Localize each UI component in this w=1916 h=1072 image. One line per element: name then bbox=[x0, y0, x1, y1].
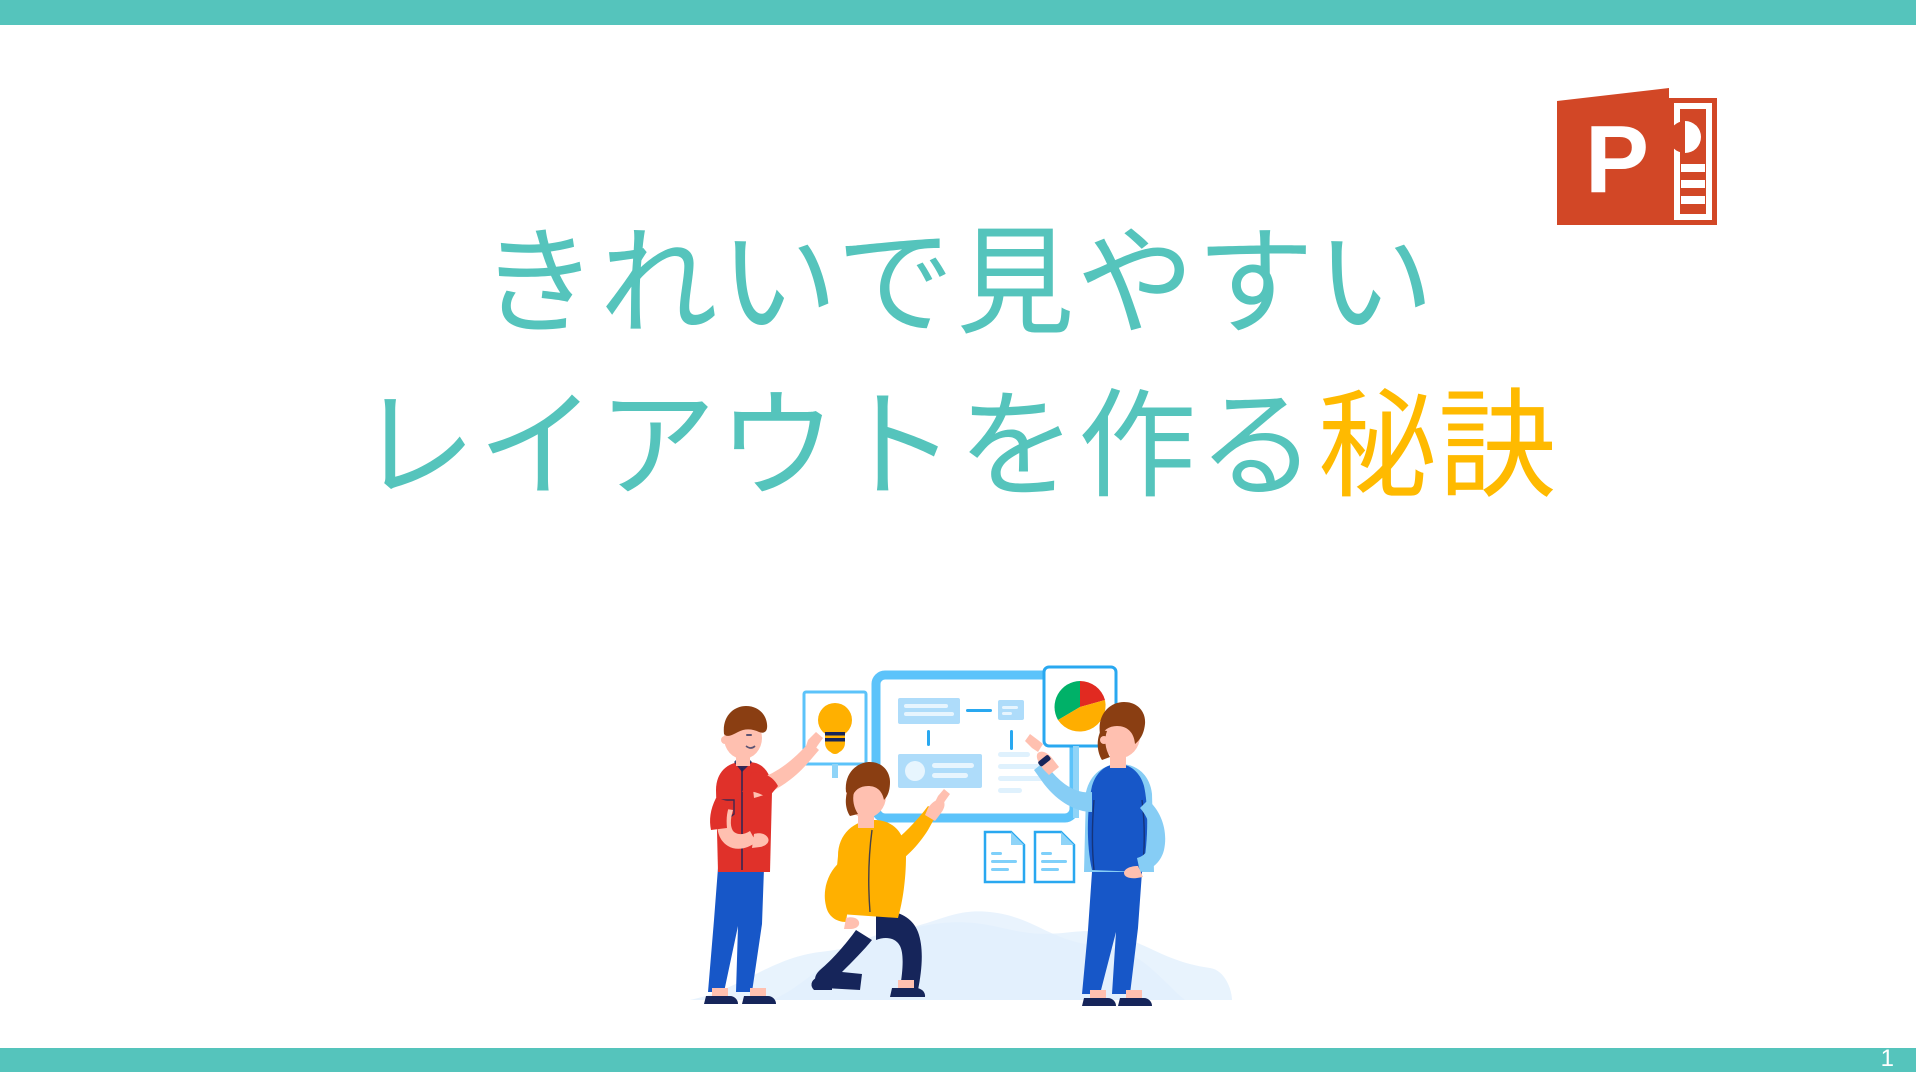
ground-hills bbox=[690, 911, 1232, 1000]
title-line-2-main: レイアウトを作る bbox=[358, 377, 1318, 515]
title-line-1: きれいで見やすい bbox=[0, 214, 1916, 353]
document-icons bbox=[985, 832, 1074, 882]
bottom-decor-band bbox=[0, 1048, 1916, 1072]
slide-canvas: P きれいで見やすい レイアウトを作る秘訣 bbox=[0, 0, 1916, 1072]
teamwork-presentation-illustration bbox=[680, 640, 1240, 1020]
title-line-2: レイアウトを作る秘訣 bbox=[0, 377, 1916, 516]
document-icon bbox=[985, 832, 1024, 882]
top-decor-band bbox=[0, 0, 1916, 25]
powerpoint-logo: P bbox=[1557, 88, 1717, 225]
document-icon bbox=[1035, 832, 1074, 882]
pie-chart-icon bbox=[1055, 681, 1106, 732]
slide-title: きれいで見やすい レイアウトを作る秘訣 bbox=[0, 214, 1916, 516]
page-number: 1 bbox=[1881, 1047, 1894, 1071]
powerpoint-logo-letter: P bbox=[1585, 106, 1649, 213]
title-line-2-accent: 秘訣 bbox=[1318, 377, 1558, 515]
